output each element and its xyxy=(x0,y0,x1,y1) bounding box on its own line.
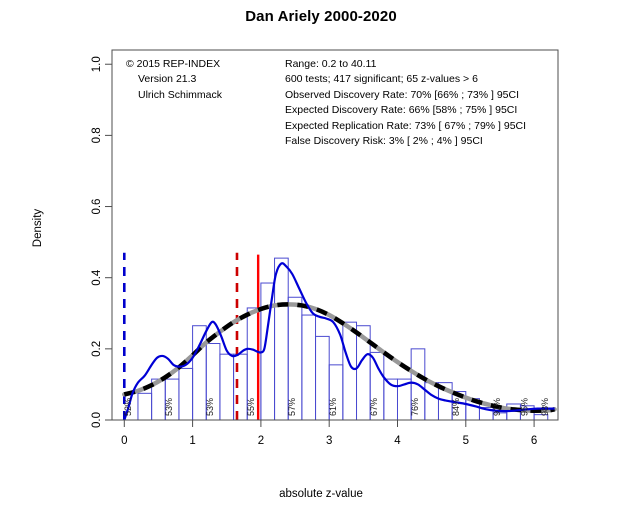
percent-label: 57% xyxy=(287,398,297,416)
percent-label: 53% xyxy=(205,398,215,416)
density-curve xyxy=(124,263,554,420)
x-tick-label: 4 xyxy=(394,435,401,447)
histogram-bar xyxy=(138,393,152,420)
percent-label: 76% xyxy=(410,398,420,416)
histogram-bar xyxy=(425,383,439,420)
percent-label: 95% xyxy=(519,398,529,416)
percent-label: 91% xyxy=(492,398,502,416)
x-tick-label: 0 xyxy=(121,435,127,447)
percent-label: 53% xyxy=(164,398,174,416)
y-axis-label: Density xyxy=(32,168,44,288)
histogram-bar xyxy=(302,315,316,420)
y-tick-label: 0.6 xyxy=(91,199,103,215)
y-tick-label: 0.8 xyxy=(91,127,103,143)
percent-label: 55% xyxy=(246,398,256,416)
x-axis-label: absolute z-value xyxy=(0,488,642,500)
chart-figure: Dan Ariely 2000-2020 © 2015 REP-INDEX Ve… xyxy=(0,0,642,516)
y-tick-label: 0.4 xyxy=(91,269,103,286)
percent-label: 67% xyxy=(369,398,379,416)
histogram-bar xyxy=(220,354,234,420)
histogram-bar xyxy=(275,258,289,420)
histogram-bar xyxy=(179,368,193,420)
percent-label: 98% xyxy=(540,398,550,416)
x-tick-label: 2 xyxy=(258,435,264,447)
x-tick-label: 6 xyxy=(531,435,537,447)
y-tick-label: 0.2 xyxy=(91,341,103,357)
model-fit-curve xyxy=(124,304,554,410)
observed-density-path xyxy=(124,263,554,420)
histogram-bars xyxy=(138,258,548,420)
x-tick-label: 1 xyxy=(189,435,195,447)
plot-area: 01234560.00.20.40.60.81.0 52%53%53%55%57… xyxy=(0,0,642,516)
percent-label: 52% xyxy=(123,398,133,416)
percent-label: 84% xyxy=(451,398,461,416)
percent-label: 61% xyxy=(328,398,338,416)
percent-labels: 52%53%53%55%57%61%67%76%84%91%95%98% xyxy=(123,398,550,416)
reference-lines xyxy=(124,253,258,420)
x-tick-label: 5 xyxy=(463,435,469,447)
axes: 01234560.00.20.40.60.81.0 xyxy=(91,50,558,447)
y-tick-label: 0.0 xyxy=(91,412,103,428)
y-tick-label: 1.0 xyxy=(91,56,103,72)
x-tick-label: 3 xyxy=(326,435,332,447)
histogram-bar xyxy=(343,322,357,420)
